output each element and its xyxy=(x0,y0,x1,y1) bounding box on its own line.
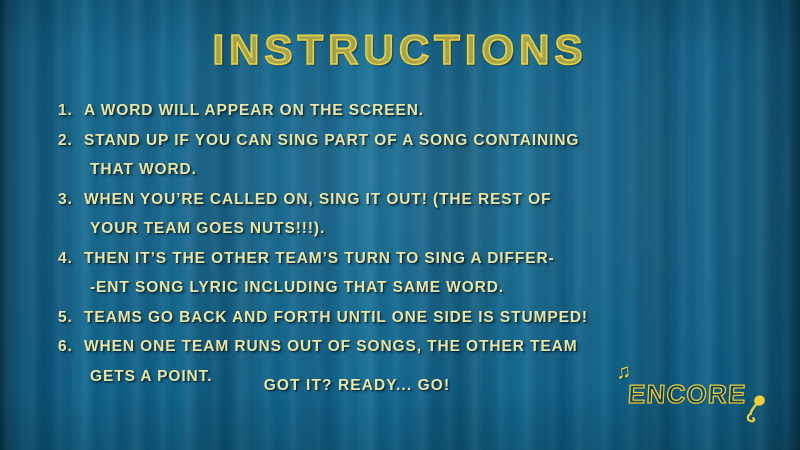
list-item-text: STAND UP IF YOU CAN SING PART OF A SONG … xyxy=(84,126,748,185)
list-item-line: THAT WORD. xyxy=(90,155,748,185)
list-item-line: WHEN ONE TEAM RUNS OUT OF SONGS, THE OTH… xyxy=(84,332,748,362)
list-item-number: 5. xyxy=(58,303,84,333)
list-item-number: 2. xyxy=(58,126,84,156)
list-item-number: 3. xyxy=(58,185,84,215)
list-item: 3. WHEN YOU’RE CALLED ON, SING IT OUT! (… xyxy=(58,185,748,244)
microphone-icon xyxy=(740,392,770,426)
list-item-text: WHEN YOU’RE CALLED ON, SING IT OUT! (THE… xyxy=(84,185,748,244)
list-item-line: STAND UP IF YOU CAN SING PART OF A SONG … xyxy=(84,126,748,156)
slide-content: INSTRUCTIONS INSTRUCTIONS 1. A WORD WILL… xyxy=(0,0,800,450)
list-item: 5. TEAMS GO BACK AND FORTH UNTIL ONE SID… xyxy=(58,303,748,333)
instructions-slide: INSTRUCTIONS INSTRUCTIONS 1. A WORD WILL… xyxy=(0,0,800,450)
encore-logo-text: ENCORE xyxy=(627,379,747,410)
list-item-line: A WORD WILL APPEAR ON THE SCREEN. xyxy=(84,96,748,126)
list-item-text: TEAMS GO BACK AND FORTH UNTIL ONE SIDE I… xyxy=(84,303,748,333)
list-item-text: A WORD WILL APPEAR ON THE SCREEN. xyxy=(84,96,748,126)
list-item-line: THEN IT’S THE OTHER TEAM’S TURN TO SING … xyxy=(84,244,748,274)
list-item-text: THEN IT’S THE OTHER TEAM’S TURN TO SING … xyxy=(84,244,748,303)
list-item-number: 1. xyxy=(58,96,84,126)
list-item-line: YOUR TEAM GOES NUTS!!!). xyxy=(90,214,748,244)
list-item-number: 6. xyxy=(58,332,84,362)
page-title: INSTRUCTIONS xyxy=(0,26,800,74)
instructions-list: 1. A WORD WILL APPEAR ON THE SCREEN. 2. … xyxy=(58,96,748,391)
list-item-line: TEAMS GO BACK AND FORTH UNTIL ONE SIDE I… xyxy=(84,303,748,333)
list-item: 2. STAND UP IF YOU CAN SING PART OF A SO… xyxy=(58,126,748,185)
list-item-line: -ENT SONG LYRIC INCLUDING THAT SAME WORD… xyxy=(90,273,748,303)
list-item-line: WHEN YOU’RE CALLED ON, SING IT OUT! (THE… xyxy=(84,185,748,215)
encore-logo: ♫ ENCORE ENCORE xyxy=(610,362,786,424)
list-item: 4. THEN IT’S THE OTHER TEAM’S TURN TO SI… xyxy=(58,244,748,303)
list-item-number: 4. xyxy=(58,244,84,274)
list-item: 1. A WORD WILL APPEAR ON THE SCREEN. xyxy=(58,96,748,126)
